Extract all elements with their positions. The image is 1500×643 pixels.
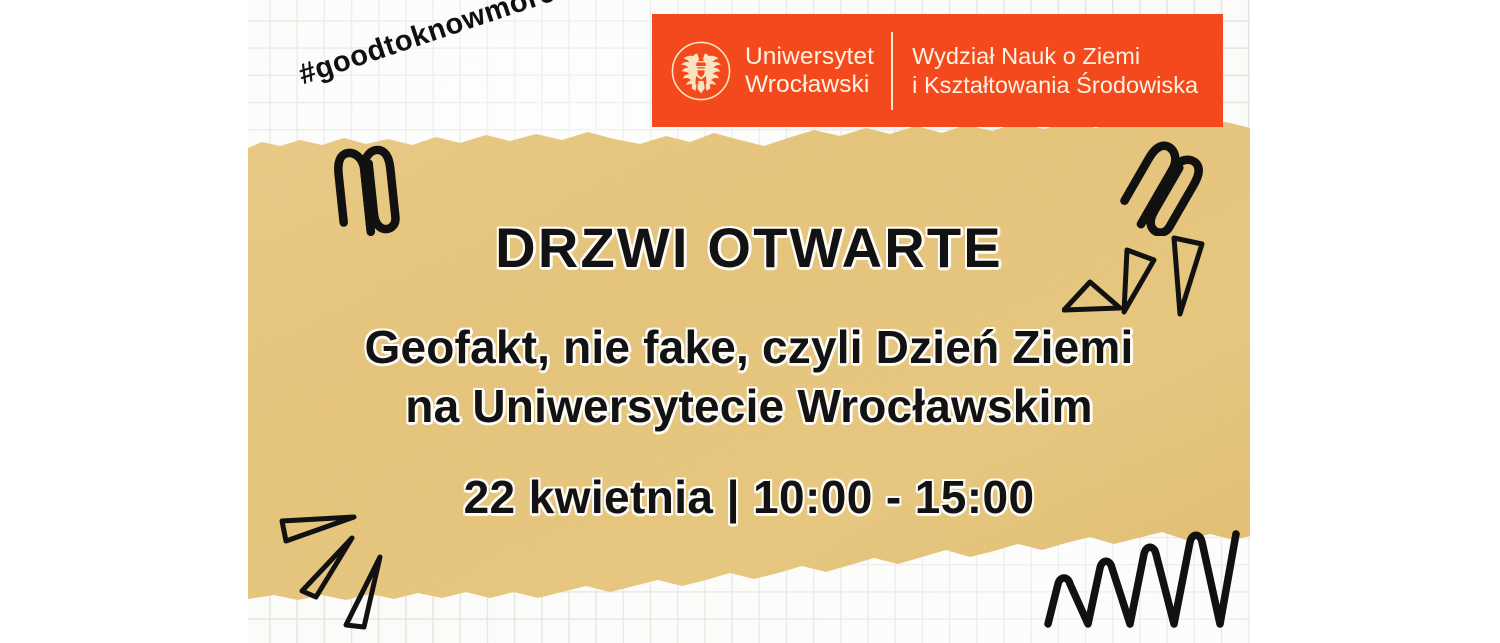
university-name: Uniwersytet Wrocławski <box>745 43 874 98</box>
kraft-paper-shape <box>248 120 1250 600</box>
poster-canvas: #goodtoknowmore <box>0 0 1500 643</box>
university-logo-block: Uniwersytet Wrocławski <box>652 40 874 102</box>
eagle-crest-icon <box>670 40 732 102</box>
banner-divider <box>891 32 893 110</box>
university-banner: Uniwersytet Wrocławski Wydział Nauk o Zi… <box>652 14 1223 127</box>
torn-kraft-paper <box>248 120 1250 600</box>
faculty-name: Wydział Nauk o Ziemi i Kształtowania Śro… <box>912 42 1198 99</box>
